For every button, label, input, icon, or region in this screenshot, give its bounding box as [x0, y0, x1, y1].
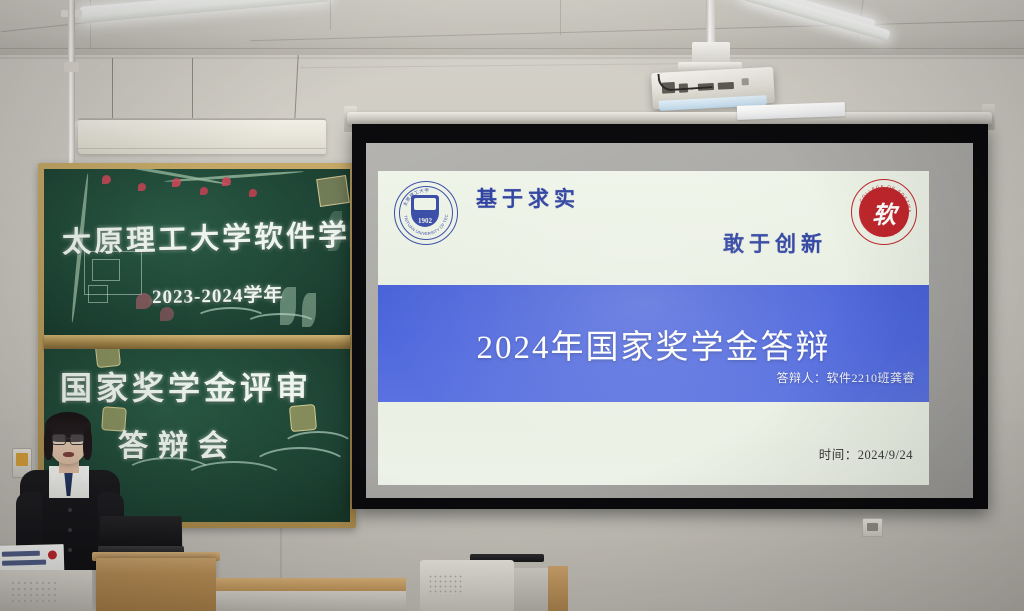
desk-body	[216, 591, 406, 611]
slide-motto-left: 基于求实	[476, 183, 580, 213]
chalk-grass-decoration	[302, 293, 316, 327]
presenter-hair	[83, 428, 92, 460]
equipment-vent	[428, 574, 464, 596]
slide-date: 时间：2024/9/24	[819, 444, 913, 463]
chalk-blossom-decoration	[200, 187, 208, 195]
projector-port	[718, 82, 734, 90]
presenter-button	[68, 528, 72, 532]
blackboard-bottom-heading: 国家奖学金评审	[60, 363, 312, 409]
presenter-button	[68, 508, 72, 512]
slide-header: 太原理工大学 TAIYUAN UNIVERSITY OF TECHNOLOGY …	[378, 171, 929, 285]
college-logo-disc: 软	[859, 187, 909, 237]
chalk-lotus-decoration	[160, 307, 174, 321]
slide-presenter: 答辩人：软件2210班龚睿	[776, 369, 915, 386]
curtain-wire	[192, 58, 193, 120]
glasses-lens-left	[52, 434, 66, 445]
college-logo-glyph: 软	[859, 187, 909, 237]
wall-hairline	[300, 63, 720, 68]
chalk-window-decoration	[92, 259, 120, 281]
speaker-grille	[10, 580, 60, 604]
av-equipment-cabinet	[420, 560, 514, 611]
slide-motto-right: 敢于创新	[723, 228, 827, 258]
chalk-lantern-decoration	[316, 175, 350, 207]
pole-joint	[64, 62, 79, 72]
ceiling-grid-line	[250, 20, 1024, 41]
tyut-shield-inner	[414, 198, 436, 210]
classroom-photo-scene: 太原理工大学软件学院 2023-2024学年 国家奖学金评审 答辩会	[0, 0, 1024, 611]
rolled-window-shade[interactable]	[78, 120, 326, 154]
chalk-blossom-decoration	[138, 183, 146, 191]
presenter-button	[68, 548, 72, 552]
name-card-text-line	[2, 560, 46, 566]
wooden-podium	[96, 558, 216, 611]
wooden-side-panel	[548, 566, 568, 611]
presentation-slide[interactable]: 太原理工大学 TAIYUAN UNIVERSITY OF TECHNOLOGY …	[378, 171, 929, 485]
ceiling-grid-line	[560, 0, 561, 35]
projector-mount-bracket	[692, 42, 730, 64]
projector-cable	[657, 70, 712, 92]
taiyuan-university-of-technology-logo-icon: 太原理工大学 TAIYUAN UNIVERSITY OF TECHNOLOGY …	[394, 181, 458, 245]
blackboard-top-subheading: 2023-2024学年	[152, 280, 284, 309]
blackboard-top-panel: 太原理工大学软件学院 2023-2024学年	[44, 169, 350, 337]
chalk-blossom-decoration	[249, 189, 257, 197]
name-card-emblem	[48, 550, 57, 559]
presenter-hair	[44, 428, 53, 460]
projector-mount-pipe	[706, 0, 715, 44]
chalk-wave-decoration	[280, 431, 350, 465]
wooden-desk-counter	[216, 578, 406, 591]
glasses-lens-right	[70, 434, 84, 445]
tyut-founding-year: 1902	[411, 217, 439, 225]
presentation-laptop-screen[interactable]	[100, 516, 182, 548]
blackboard-chalk-ledge	[44, 335, 350, 349]
presenter-glasses-icon	[52, 434, 84, 443]
projector-port	[742, 78, 749, 85]
blackboard-bottom-subheading: 答辩会	[118, 421, 238, 465]
ceiling-grid-line	[0, 48, 1024, 49]
tyut-shield-emblem: 1902	[411, 195, 439, 227]
name-card-text-line	[2, 551, 40, 557]
blackboard-top-heading: 太原理工大学软件学院	[62, 211, 350, 261]
ceiling-grid-line	[330, 0, 331, 30]
chalk-blossom-decoration	[102, 175, 111, 184]
chalk-blossom-decoration	[172, 178, 181, 187]
curtain-wire	[112, 58, 113, 120]
wall-outlet-icon[interactable]	[862, 518, 883, 537]
presenter-mouth	[63, 452, 74, 457]
chalk-blossom-decoration	[222, 177, 231, 186]
projection-screen-frame: 太原理工大学 TAIYUAN UNIVERSITY OF TECHNOLOGY …	[352, 124, 988, 509]
college-of-software-logo-icon: COLLEGE OF SOFTWARE 太原理工大学软件学院 软	[851, 179, 917, 245]
chalk-lotus-decoration	[136, 293, 152, 309]
wall-seam	[0, 57, 1024, 59]
chalk-window-decoration	[88, 285, 108, 303]
